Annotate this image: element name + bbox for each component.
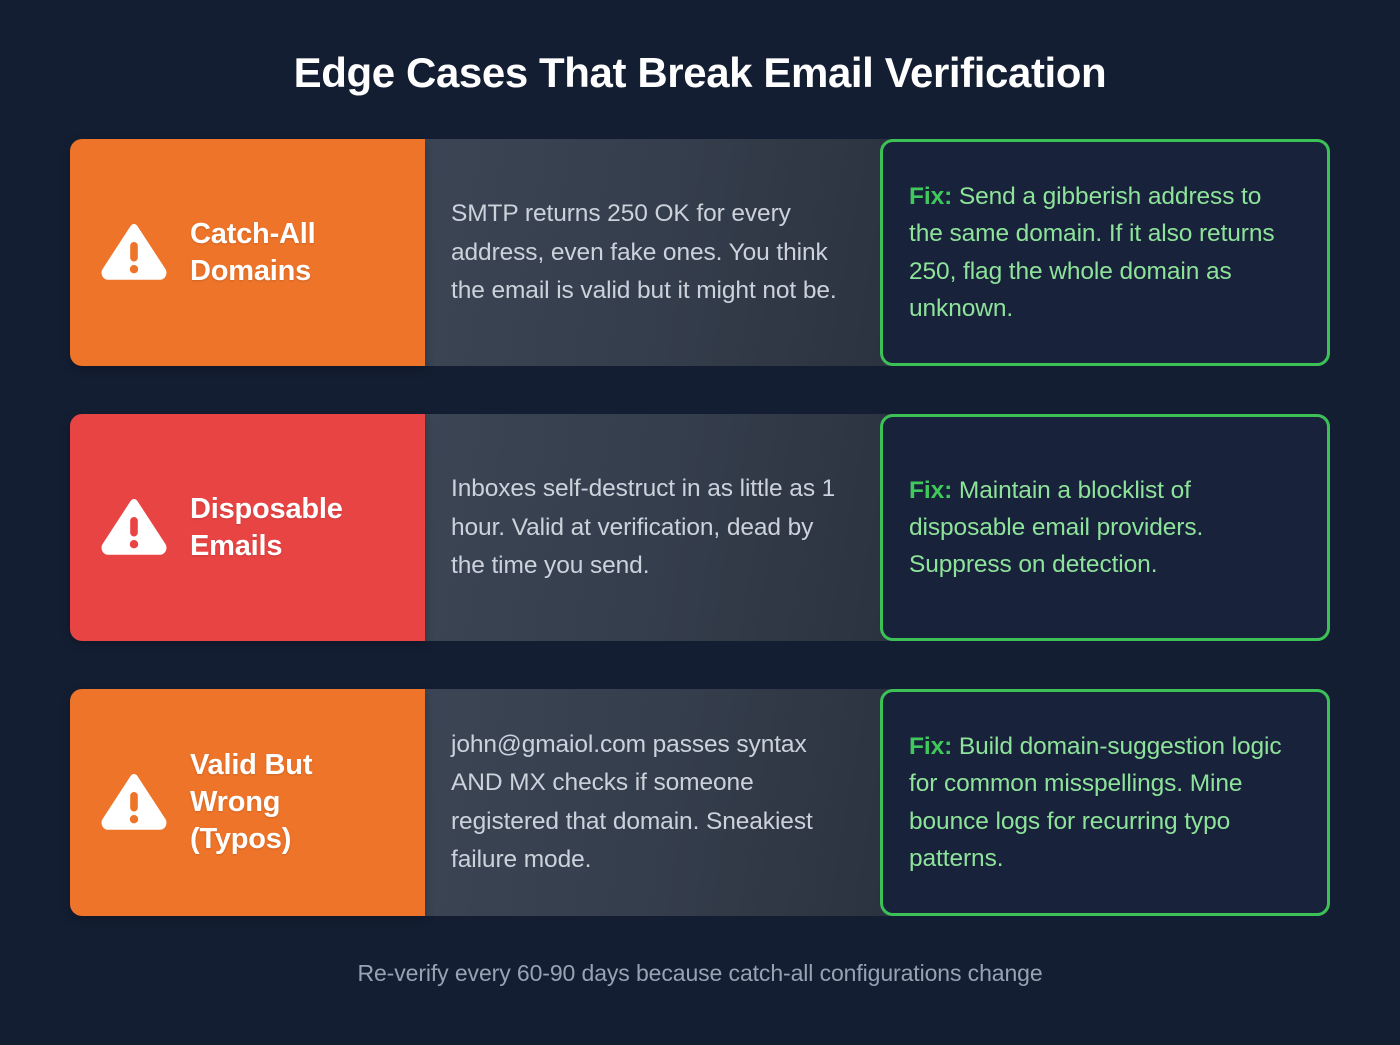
- card-description: john@gmaiol.com passes syntax AND MX che…: [451, 726, 846, 879]
- card-valid-but-wrong-typos: Valid But Wrong (Typos) john@gmaiol.com …: [70, 689, 1330, 916]
- card-list: Catch-All Domains SMTP returns 250 OK fo…: [0, 139, 1400, 916]
- fix-box: Fix: Build domain-suggestion logic for c…: [880, 689, 1330, 916]
- card-disposable-emails: Disposable Emails Inboxes self-destruct …: [70, 414, 1330, 641]
- card-header-panel: Disposable Emails: [70, 414, 425, 641]
- footer-note: Re-verify every 60-90 days because catch…: [0, 960, 1400, 987]
- card-catch-all-domains: Catch-All Domains SMTP returns 250 OK fo…: [70, 139, 1330, 366]
- fix-body: Maintain a blocklist of disposable email…: [909, 477, 1203, 578]
- fix-body: Build domain-suggestion logic for common…: [909, 733, 1282, 872]
- card-description-panel: SMTP returns 250 OK for every address, e…: [425, 139, 880, 366]
- card-header-panel: Catch-All Domains: [70, 139, 425, 366]
- card-description-panel: Inboxes self-destruct in as little as 1 …: [425, 414, 880, 641]
- warning-triangle-icon: [100, 772, 168, 834]
- card-fix-region: Fix: Maintain a blocklist of disposable …: [880, 414, 1330, 641]
- card-fix-region: Fix: Build domain-suggestion logic for c…: [880, 689, 1330, 916]
- fix-body: Send a gibberish address to the same dom…: [909, 183, 1275, 322]
- card-title-line: (Typos): [190, 821, 312, 858]
- fix-box: Fix: Send a gibberish address to the sam…: [880, 139, 1330, 366]
- fix-label: Fix:: [909, 477, 952, 504]
- card-header-panel: Valid But Wrong (Typos): [70, 689, 425, 916]
- card-title-line: Wrong: [190, 784, 312, 821]
- card-description-panel: john@gmaiol.com passes syntax AND MX che…: [425, 689, 880, 916]
- warning-triangle-icon: [100, 497, 168, 559]
- fix-text-container: Fix: Send a gibberish address to the sam…: [909, 178, 1301, 327]
- fix-text-container: Fix: Maintain a blocklist of disposable …: [909, 472, 1301, 584]
- card-title: Catch-All Domains: [190, 216, 316, 290]
- warning-triangle-icon: [100, 222, 168, 284]
- fix-label: Fix:: [909, 183, 952, 210]
- card-title-line: Catch-All: [190, 216, 316, 253]
- page-title: Edge Cases That Break Email Verification: [0, 50, 1400, 96]
- card-title-line: Valid But: [190, 747, 312, 784]
- card-title-line: Domains: [190, 253, 316, 290]
- card-title-line: Disposable: [190, 491, 343, 528]
- card-title: Disposable Emails: [190, 491, 343, 565]
- card-title: Valid But Wrong (Typos): [190, 747, 312, 858]
- infographic-root: Edge Cases That Break Email Verification…: [0, 0, 1400, 1045]
- fix-text-container: Fix: Build domain-suggestion logic for c…: [909, 728, 1301, 877]
- fix-box: Fix: Maintain a blocklist of disposable …: [880, 414, 1330, 641]
- fix-label: Fix:: [909, 733, 952, 760]
- card-title-line: Emails: [190, 528, 343, 565]
- card-description: SMTP returns 250 OK for every address, e…: [451, 195, 846, 310]
- card-description: Inboxes self-destruct in as little as 1 …: [451, 470, 846, 585]
- card-fix-region: Fix: Send a gibberish address to the sam…: [880, 139, 1330, 366]
